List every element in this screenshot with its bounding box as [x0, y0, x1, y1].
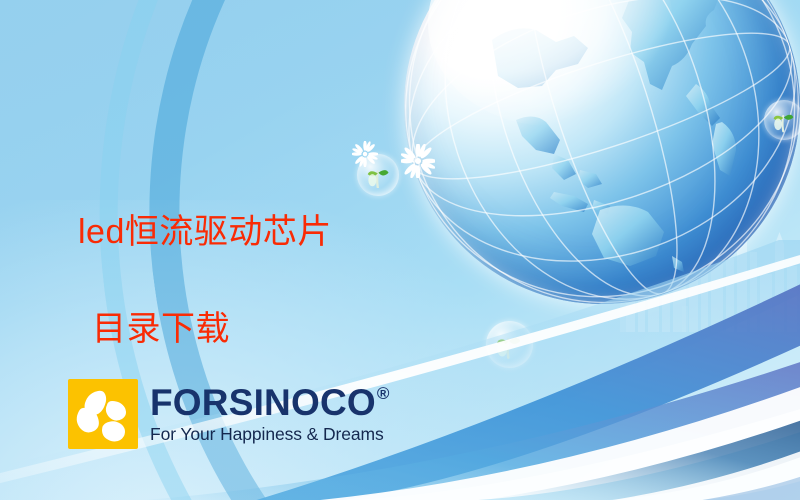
green-sprout-icon [494, 329, 524, 359]
marketing-hero-banner: led恒流驱动芯片 目录下载 FORSINOCO ® [0, 0, 800, 500]
headline-line-2: 目录下载 [78, 305, 498, 353]
bubble-with-green-sprout-icon [764, 100, 800, 140]
brand-logo[interactable]: FORSINOCO ® For Your Happiness & Dreams [68, 379, 390, 449]
page-title: led恒流驱动芯片 目录下载 [78, 160, 498, 401]
logo-wordmark: FORSINOCO ® [150, 384, 390, 421]
headline-line-1: led恒流驱动芯片 [78, 208, 498, 256]
city-skyline-icon [620, 222, 800, 332]
globe-highlight [428, 0, 674, 126]
logo-wordmark-text: FORSINOCO [150, 384, 376, 421]
green-sprout-icon [771, 107, 797, 133]
logo-tagline: For Your Happiness & Dreams [150, 426, 390, 444]
registered-trademark-symbol: ® [377, 385, 390, 402]
four-petal-pinwheel-icon [68, 379, 138, 449]
